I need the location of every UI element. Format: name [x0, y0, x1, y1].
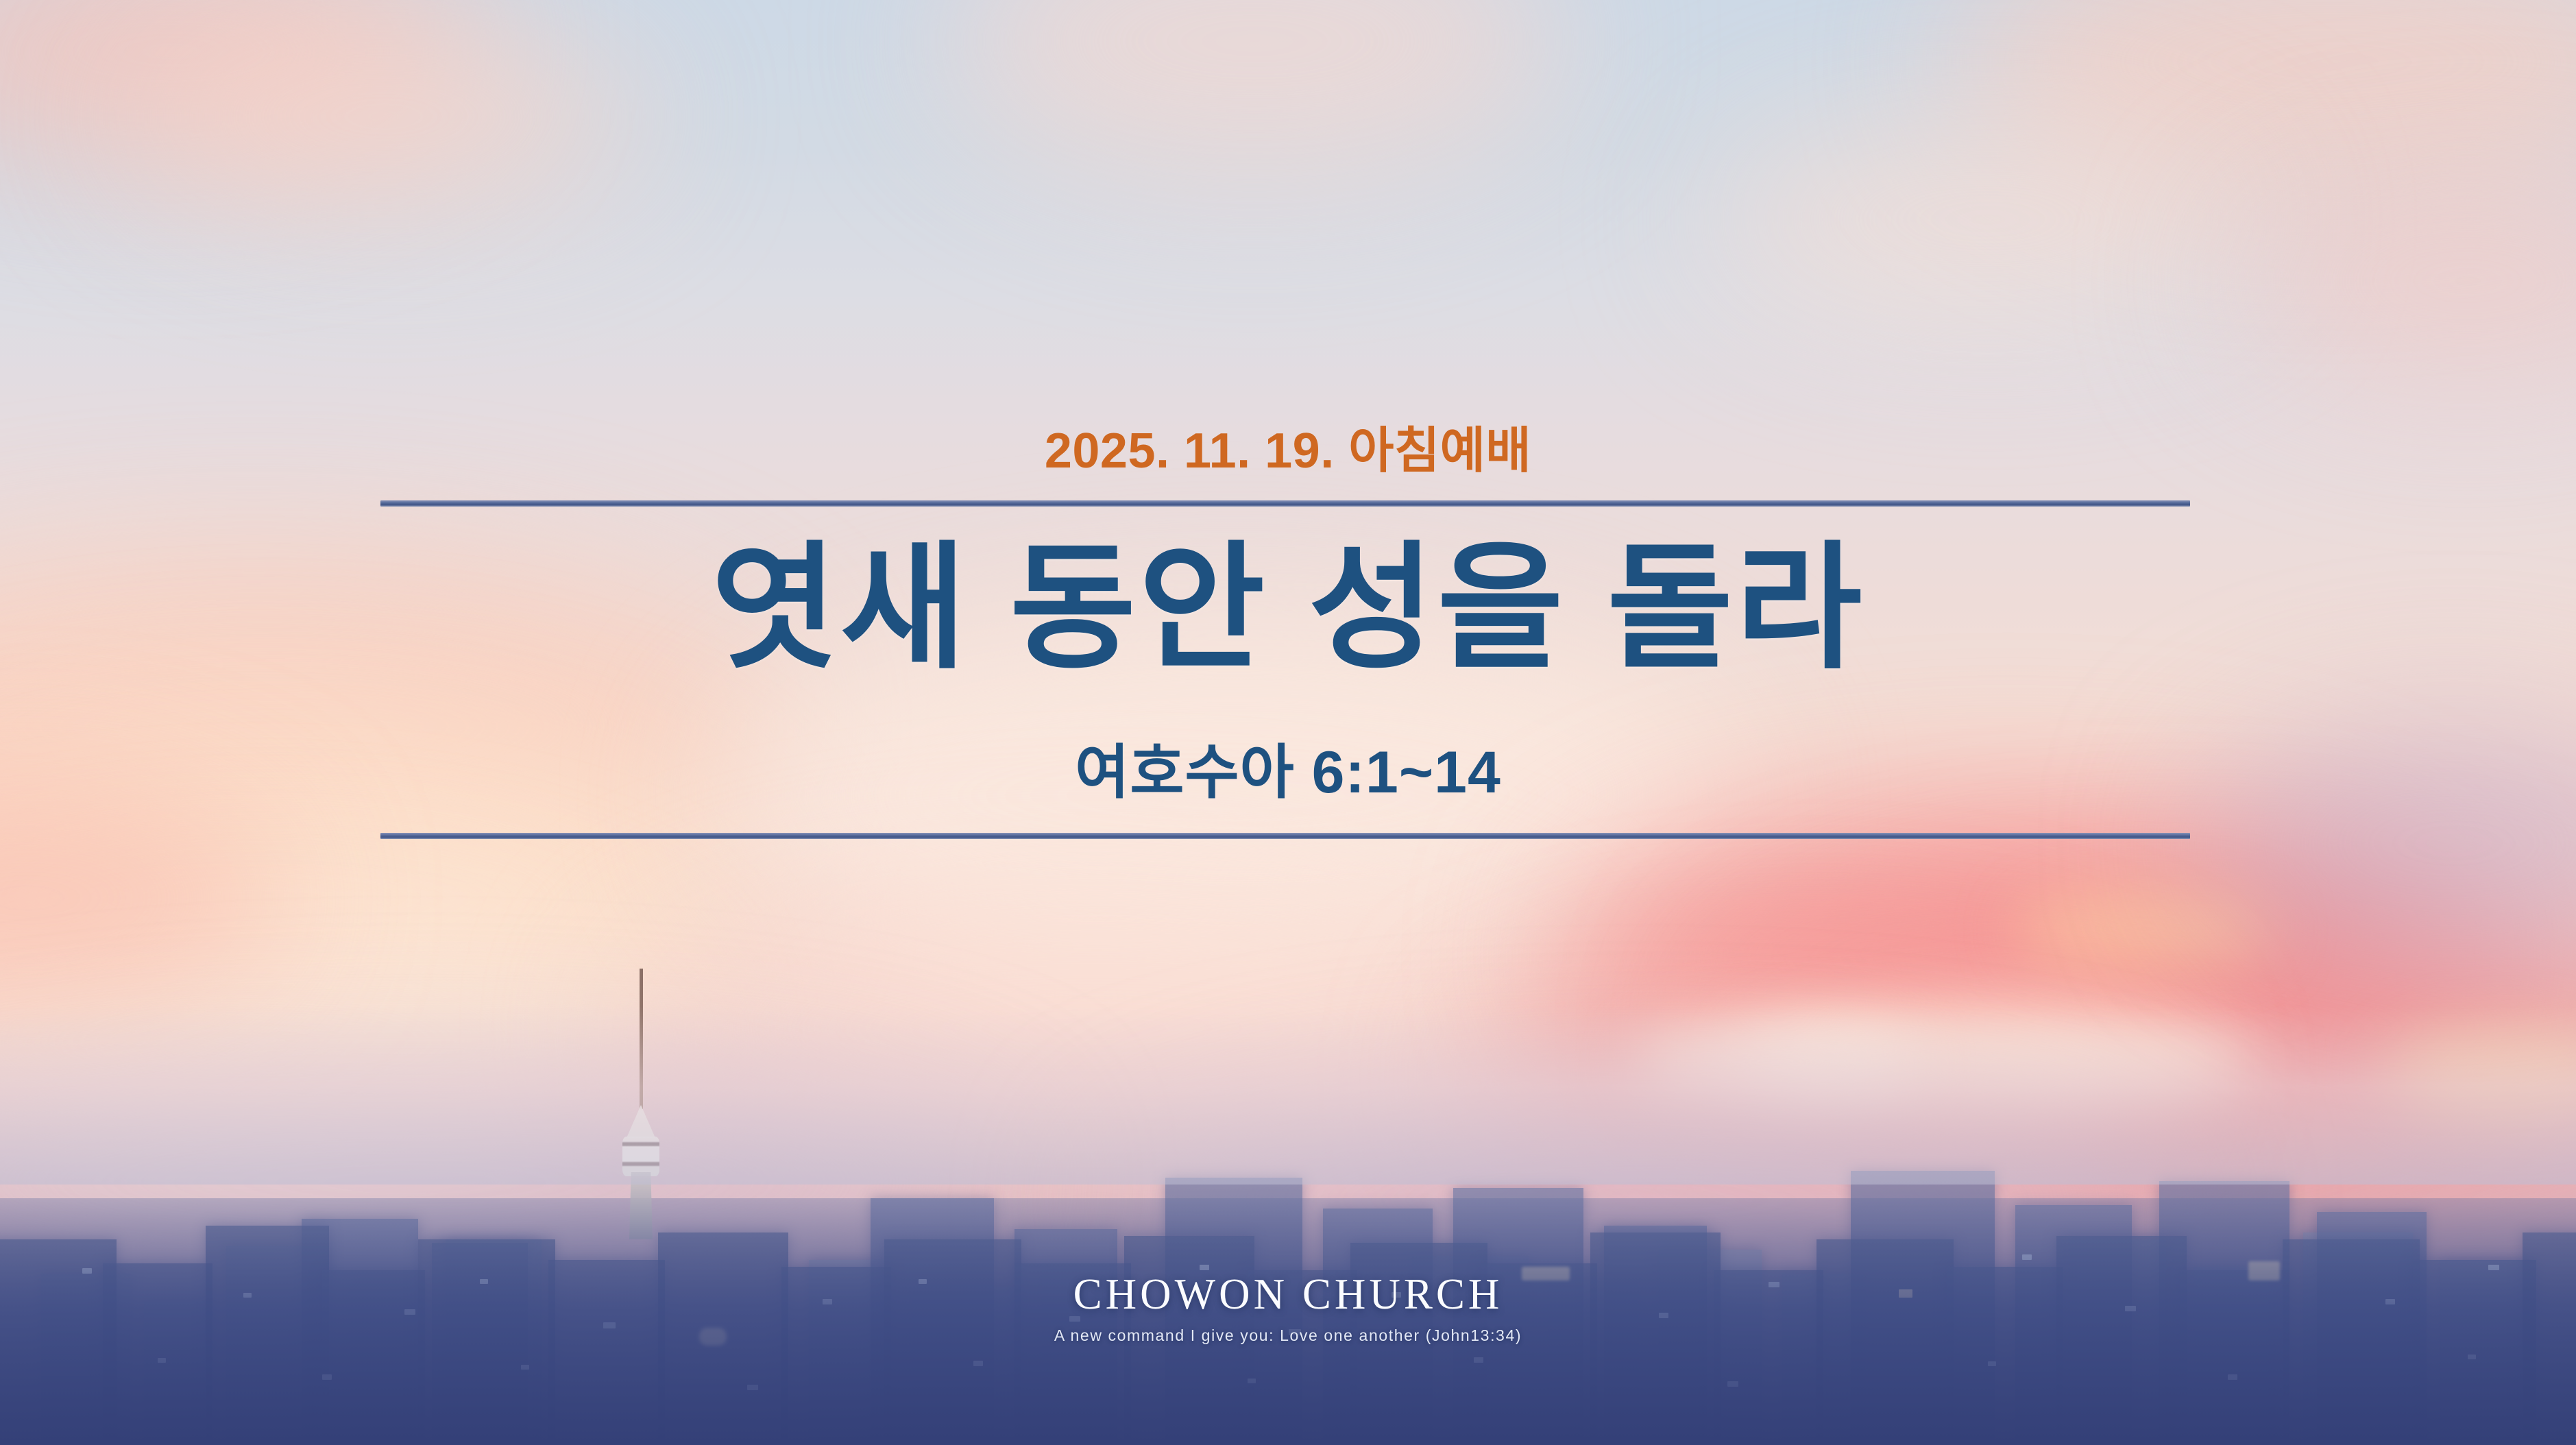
scripture-reference: 여호수아 6:1~14 [0, 724, 2576, 810]
divider-line-top [380, 500, 2190, 507]
service-date-line: 2025. 11. 19. 아침예배 [0, 410, 2576, 482]
slide-text-content: 2025. 11. 19. 아침예배 엿새 동안 성을 돌라 여호수아 6:1~… [0, 0, 2576, 1445]
church-logo: CHOWON CHURCH A new command I give you: … [0, 1270, 2576, 1345]
worship-title-slide: 2025. 11. 19. 아침예배 엿새 동안 성을 돌라 여호수아 6:1~… [0, 0, 2576, 1445]
church-tagline: A new command I give you: Love one anoth… [0, 1326, 2576, 1345]
sermon-title: 엿새 동안 성을 돌라 [0, 535, 2576, 683]
divider-line-bottom [380, 833, 2190, 839]
church-name: CHOWON CHURCH [0, 1270, 2576, 1320]
